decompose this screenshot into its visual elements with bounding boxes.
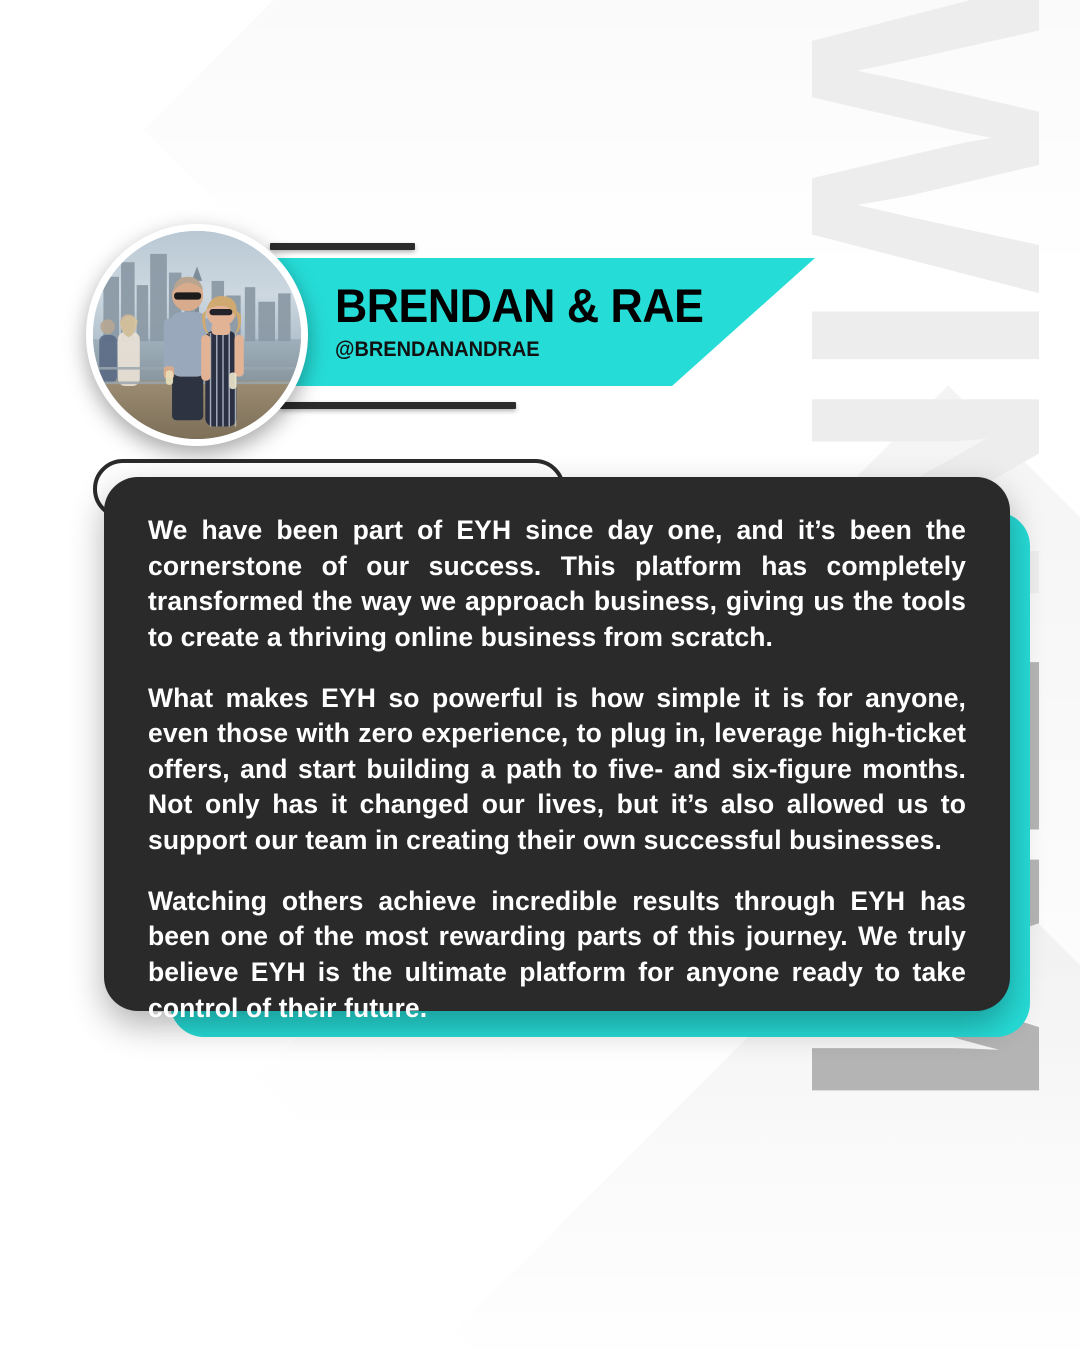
testimonial-paragraph: We have been part of EYH since day one, … — [148, 513, 966, 656]
testimonial-section: We have been part of EYH since day one, … — [0, 0, 1080, 1350]
testimonial-paragraph: Watching others achieve incredible resul… — [148, 884, 966, 1027]
testimonial-paragraph: What makes EYH so powerful is how simple… — [148, 681, 966, 859]
testimonial-card: We have been part of EYH since day one, … — [104, 477, 1010, 1011]
